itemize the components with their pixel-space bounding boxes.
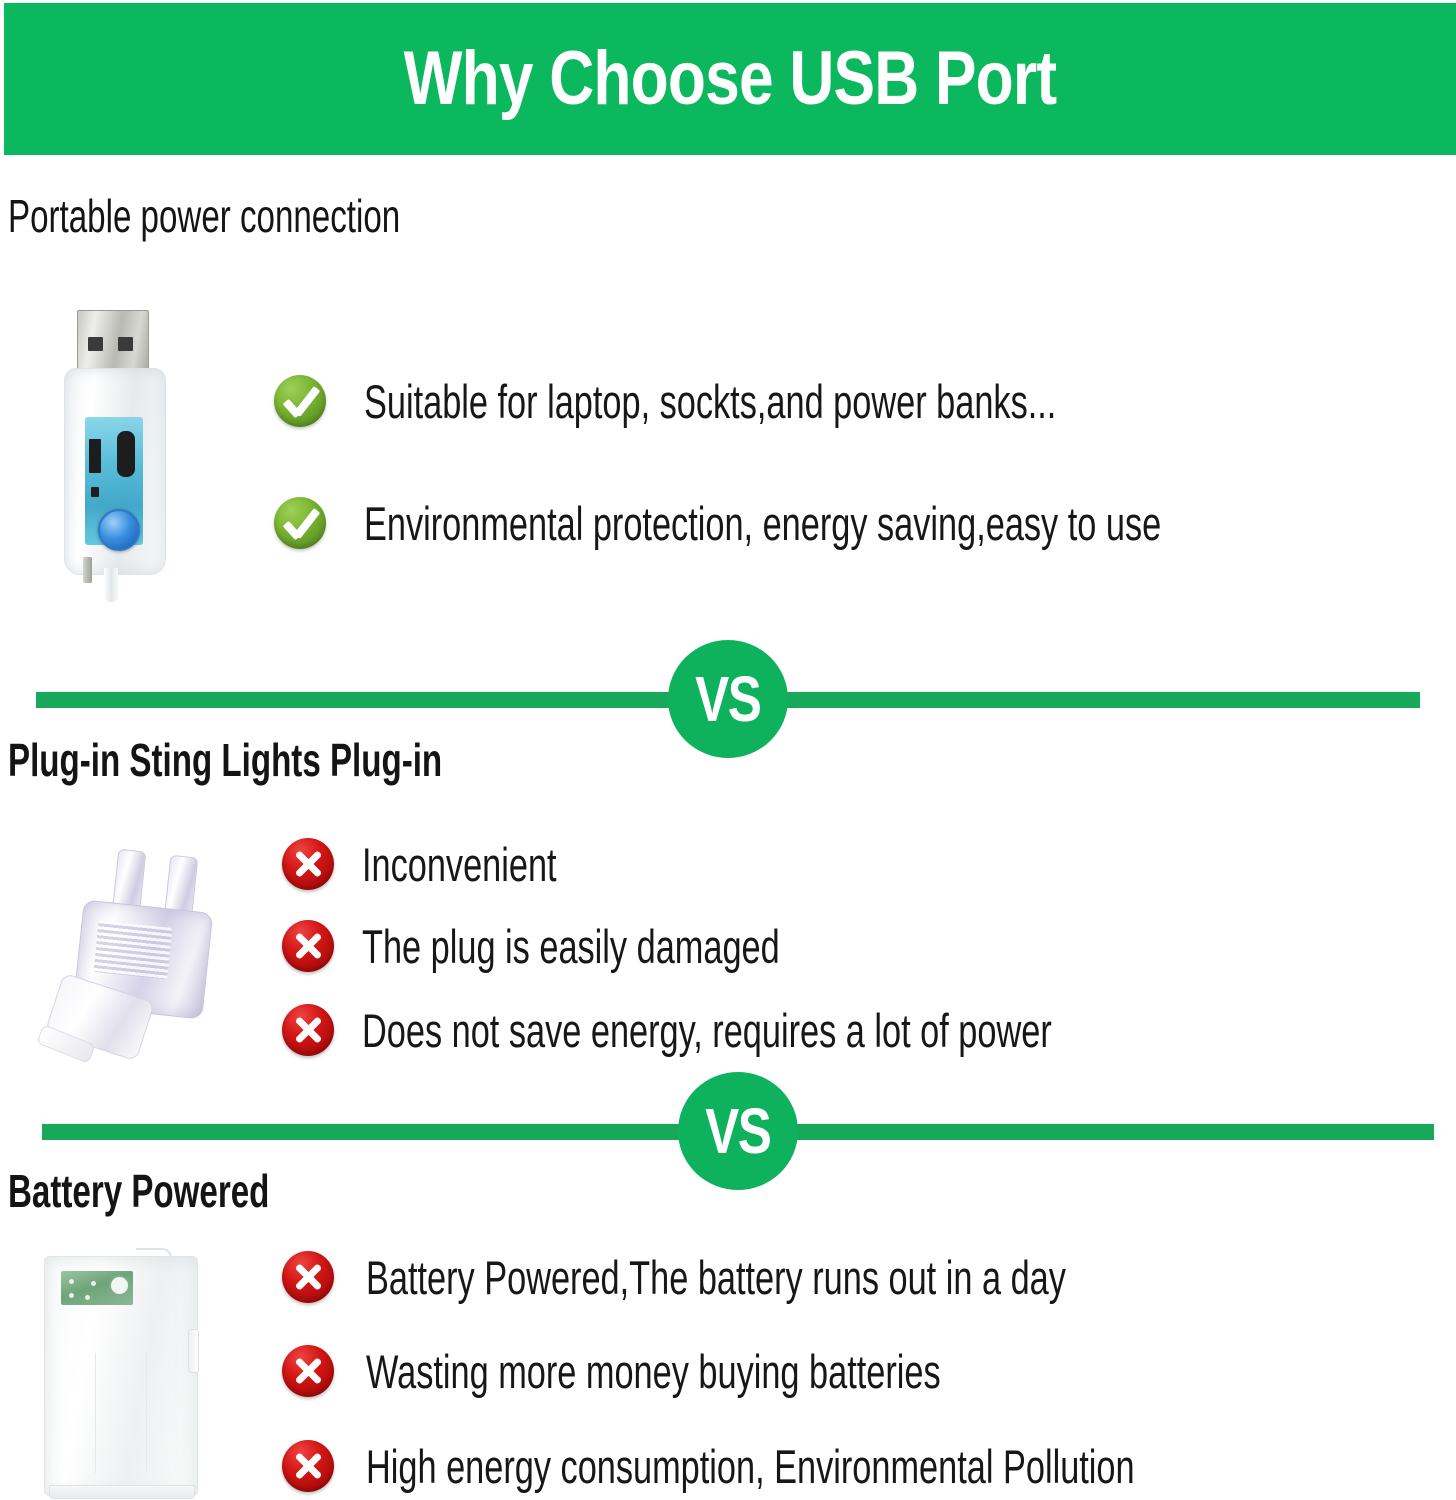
page-title: Why Choose USB Port bbox=[404, 41, 1057, 117]
vs-label: VS bbox=[695, 667, 760, 731]
cross-circle-icon bbox=[282, 1251, 334, 1303]
vs-badge: VS bbox=[678, 1072, 798, 1190]
usb-pin bbox=[83, 557, 92, 583]
bullet-text: Wasting more money buying batteries bbox=[366, 1348, 941, 1395]
check-circle-icon bbox=[274, 497, 326, 549]
battery-switch bbox=[188, 1329, 199, 1373]
bullet-row: Does not save energy, requires a lot of … bbox=[282, 1004, 1307, 1056]
battery-slot-divider bbox=[95, 1353, 96, 1473]
bullet-row: The plug is easily damaged bbox=[282, 920, 934, 972]
battery-pcb-dot bbox=[69, 1293, 74, 1298]
usb-chip bbox=[117, 431, 135, 477]
bullet-text: High energy consumption, Environmental P… bbox=[366, 1443, 1135, 1490]
section-heading-usb: Portable power connection bbox=[8, 193, 400, 239]
ac-plug-image bbox=[36, 848, 236, 1078]
battery-case-lip bbox=[49, 1485, 195, 1499]
battery-case bbox=[44, 1256, 198, 1496]
bullet-text: Does not save energy, requires a lot of … bbox=[362, 1007, 1052, 1054]
bullet-text: Suitable for laptop, sockts,and power ba… bbox=[364, 378, 1056, 425]
bullet-text: Environmental protection, energy saving,… bbox=[364, 500, 1161, 547]
header-banner: Why Choose USB Port bbox=[4, 3, 1456, 155]
check-circle-icon bbox=[274, 375, 326, 427]
bullet-row: Wasting more money buying batteries bbox=[282, 1345, 1153, 1397]
battery-box-image bbox=[44, 1248, 204, 1500]
cross-circle-icon bbox=[282, 1440, 334, 1492]
bullet-text: The plug is easily damaged bbox=[362, 923, 780, 970]
battery-pcb-dot bbox=[85, 1295, 90, 1300]
vs-label: VS bbox=[705, 1099, 770, 1163]
bullet-row: High energy consumption, Environmental P… bbox=[282, 1440, 1419, 1492]
bullet-text: Battery Powered,The battery runs out in … bbox=[366, 1254, 1066, 1301]
battery-pcb-dot bbox=[91, 1281, 96, 1286]
battery-pcb-dot bbox=[69, 1279, 74, 1284]
cross-circle-icon bbox=[282, 920, 334, 972]
cross-circle-icon bbox=[282, 1004, 334, 1056]
usb-chip bbox=[91, 487, 99, 497]
usb-housing bbox=[64, 368, 166, 575]
usb-blue-button bbox=[98, 509, 140, 551]
divider-line-right bbox=[769, 692, 1420, 708]
cross-circle-icon bbox=[282, 1345, 334, 1397]
cross-circle-icon bbox=[282, 838, 334, 890]
usb-connector-image bbox=[52, 310, 182, 600]
bullet-row: Environmental protection, energy saving,… bbox=[274, 497, 1456, 549]
infographic-page: Why Choose USB Port Portable power conne… bbox=[0, 0, 1456, 1500]
section-heading-plugin: Plug-in Sting Lights Plug-in bbox=[8, 737, 442, 783]
bullet-row: Suitable for laptop, sockts,and power ba… bbox=[274, 375, 1312, 427]
divider-line-left bbox=[36, 692, 687, 708]
bullet-text: Inconvenient bbox=[362, 841, 557, 888]
usb-chip bbox=[89, 439, 101, 473]
battery-circuit-board bbox=[61, 1271, 133, 1305]
plug-ribs bbox=[93, 920, 172, 979]
bullet-row: Battery Powered,The battery runs out in … bbox=[282, 1251, 1325, 1303]
usb-cable bbox=[104, 568, 118, 602]
battery-slot-divider bbox=[146, 1353, 147, 1473]
divider-line-right bbox=[780, 1124, 1434, 1140]
divider-line-left bbox=[42, 1124, 696, 1140]
bullet-row: Inconvenient bbox=[282, 838, 629, 890]
battery-pcb-hole bbox=[109, 1275, 130, 1296]
section-heading-battery: Battery Powered bbox=[8, 1168, 269, 1214]
vs-badge: VS bbox=[668, 640, 788, 758]
